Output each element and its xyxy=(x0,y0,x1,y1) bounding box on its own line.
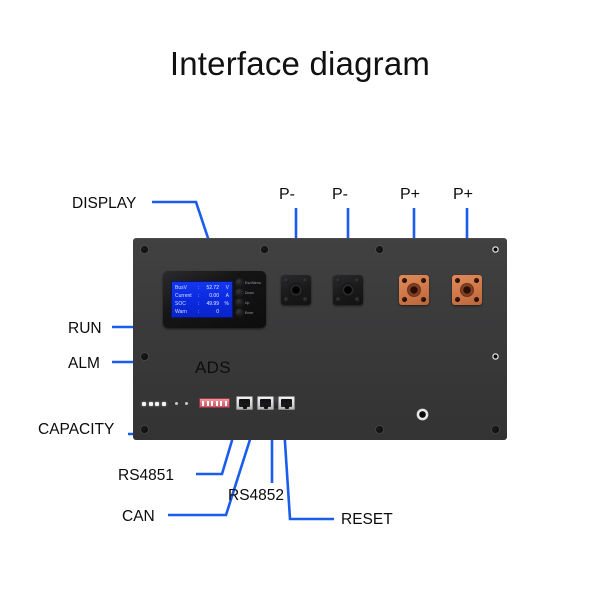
reset-button[interactable] xyxy=(274,397,278,408)
alm-led xyxy=(185,402,188,405)
lcd-row-busv: BusV : 52.72 V xyxy=(175,284,229,292)
callout-run: RUN xyxy=(68,320,102,338)
display-button-esc-menu[interactable]: Esc/Menu xyxy=(236,279,262,286)
lcd-row-soc: SOC : 49.99 % xyxy=(175,300,229,308)
terminal-bolt-icon xyxy=(355,297,360,302)
circle-button-icon xyxy=(236,289,243,296)
panel-screw-top-mid-right xyxy=(376,246,383,253)
capacity-led-3 xyxy=(155,402,159,406)
capacity-led-group xyxy=(142,402,166,406)
panel-screw-bottom-right xyxy=(492,426,499,433)
panel-screw-left-mid xyxy=(141,353,148,360)
callout-can: CAN xyxy=(122,508,155,526)
terminal-bolt-icon xyxy=(455,278,460,283)
dip-switch-position[interactable] xyxy=(211,401,213,406)
ads-dip-switch[interactable] xyxy=(199,398,230,408)
device-front-panel: BusV : 52.72 V Current : 0.00 A SOC : 49… xyxy=(133,238,507,440)
lcd-key-soc: SOC xyxy=(175,300,196,308)
display-button-up[interactable]: Up xyxy=(236,299,262,306)
panel-screw-right-mid xyxy=(492,353,499,360)
panel-screw-bottom-mid xyxy=(376,426,383,433)
dip-switch-position[interactable] xyxy=(207,401,209,406)
capacity-led-1 xyxy=(142,402,146,406)
terminal-bolt-icon xyxy=(355,278,360,283)
dip-switch-position[interactable] xyxy=(216,401,218,406)
lcd-key-busv: BusV xyxy=(175,284,196,292)
circle-button-icon xyxy=(236,299,243,306)
terminal-post-icon xyxy=(289,283,303,297)
terminal-bolt-icon xyxy=(303,297,308,302)
terminal-bolt-icon xyxy=(455,297,460,302)
display-button-label: Down xyxy=(245,291,254,295)
rj45-tab-icon xyxy=(264,405,268,409)
dip-switch-position[interactable] xyxy=(202,401,204,406)
terminal-bolt-icon xyxy=(284,297,289,302)
lcd-value-warn: 0 xyxy=(201,308,222,316)
lcd-row-warn: Warn : 0 xyxy=(175,308,229,316)
capacity-led-2 xyxy=(149,402,153,406)
display-button-group: Esc/Menu Down Up Enter xyxy=(236,279,262,319)
lcd-unit-busv: V xyxy=(222,284,229,292)
lcd-value-soc: 49.99 xyxy=(201,300,222,308)
leader-reset xyxy=(284,427,334,519)
terminal-bolt-icon xyxy=(421,278,426,283)
callout-capacity: CAPACITY xyxy=(38,421,114,439)
rj45-tab-icon xyxy=(243,405,247,409)
lcd-value-current: 0.00 xyxy=(201,292,222,300)
display-button-down[interactable]: Down xyxy=(236,289,262,296)
terminal-post-icon xyxy=(407,283,421,297)
port-can[interactable] xyxy=(278,396,295,410)
rj45-tab-icon xyxy=(285,405,289,409)
terminal-bolt-icon xyxy=(303,278,308,283)
dip-switch-position[interactable] xyxy=(225,401,227,406)
port-rs4851[interactable] xyxy=(236,396,253,410)
terminal-bolt-icon xyxy=(284,278,289,283)
callout-rs4852: RS4852 xyxy=(228,487,284,505)
terminal-bolt-icon xyxy=(421,297,426,302)
terminal-post-icon xyxy=(460,283,474,297)
circle-button-icon xyxy=(236,309,243,316)
terminal-label-pminus-1: P- xyxy=(279,186,295,204)
ads-label: ADS xyxy=(195,358,231,378)
display-button-label: Esc/Menu xyxy=(245,281,261,285)
display-button-label: Up xyxy=(245,301,250,305)
capacity-led-4 xyxy=(162,402,166,406)
terminal-pplus-2[interactable] xyxy=(452,275,482,305)
terminal-bolt-icon xyxy=(336,297,341,302)
lcd-screen: BusV : 52.72 V Current : 0.00 A SOC : 49… xyxy=(171,281,233,318)
callout-reset: RESET xyxy=(341,511,393,529)
terminal-label-pplus-2: P+ xyxy=(453,186,473,204)
terminal-bolt-icon xyxy=(474,297,479,302)
panel-screw-top-mid-left xyxy=(261,246,268,253)
dip-switch-position[interactable] xyxy=(220,401,222,406)
lcd-unit-soc: % xyxy=(222,300,229,308)
callout-display: DISPLAY xyxy=(72,195,136,213)
lcd-row-current: Current : 0.00 A xyxy=(175,292,229,300)
panel-screw-bottom-left xyxy=(141,426,148,433)
display-module[interactable]: BusV : 52.72 V Current : 0.00 A SOC : 49… xyxy=(163,271,266,328)
lcd-unit-current: A xyxy=(222,292,229,300)
terminal-bolt-icon xyxy=(336,278,341,283)
lcd-key-warn: Warn xyxy=(175,308,196,316)
panel-screw-top-left xyxy=(141,246,148,253)
display-button-enter[interactable]: Enter xyxy=(236,309,262,316)
terminal-pminus-1[interactable] xyxy=(281,275,311,305)
diagram-canvas: Interface diagram xyxy=(0,0,600,600)
circle-button-icon xyxy=(236,279,243,286)
port-rs4852[interactable] xyxy=(257,396,274,410)
display-button-label: Enter xyxy=(245,311,254,315)
terminal-bolt-icon xyxy=(402,278,407,283)
terminal-post-icon xyxy=(341,283,355,297)
callout-alm: ALM xyxy=(68,355,100,373)
panel-screw-top-right xyxy=(492,246,499,253)
callout-rs4851: RS4851 xyxy=(118,467,174,485)
run-led xyxy=(175,402,178,405)
terminal-pplus-1[interactable] xyxy=(399,275,429,305)
lcd-value-busv: 52.72 xyxy=(201,284,222,292)
lcd-key-current: Current xyxy=(175,292,196,300)
terminal-pminus-2[interactable] xyxy=(333,275,363,305)
terminal-bolt-icon xyxy=(402,297,407,302)
terminal-label-pplus-1: P+ xyxy=(400,186,420,204)
terminal-bolt-icon xyxy=(474,278,479,283)
terminal-label-pminus-2: P- xyxy=(332,186,348,204)
ground-hole xyxy=(416,408,429,421)
